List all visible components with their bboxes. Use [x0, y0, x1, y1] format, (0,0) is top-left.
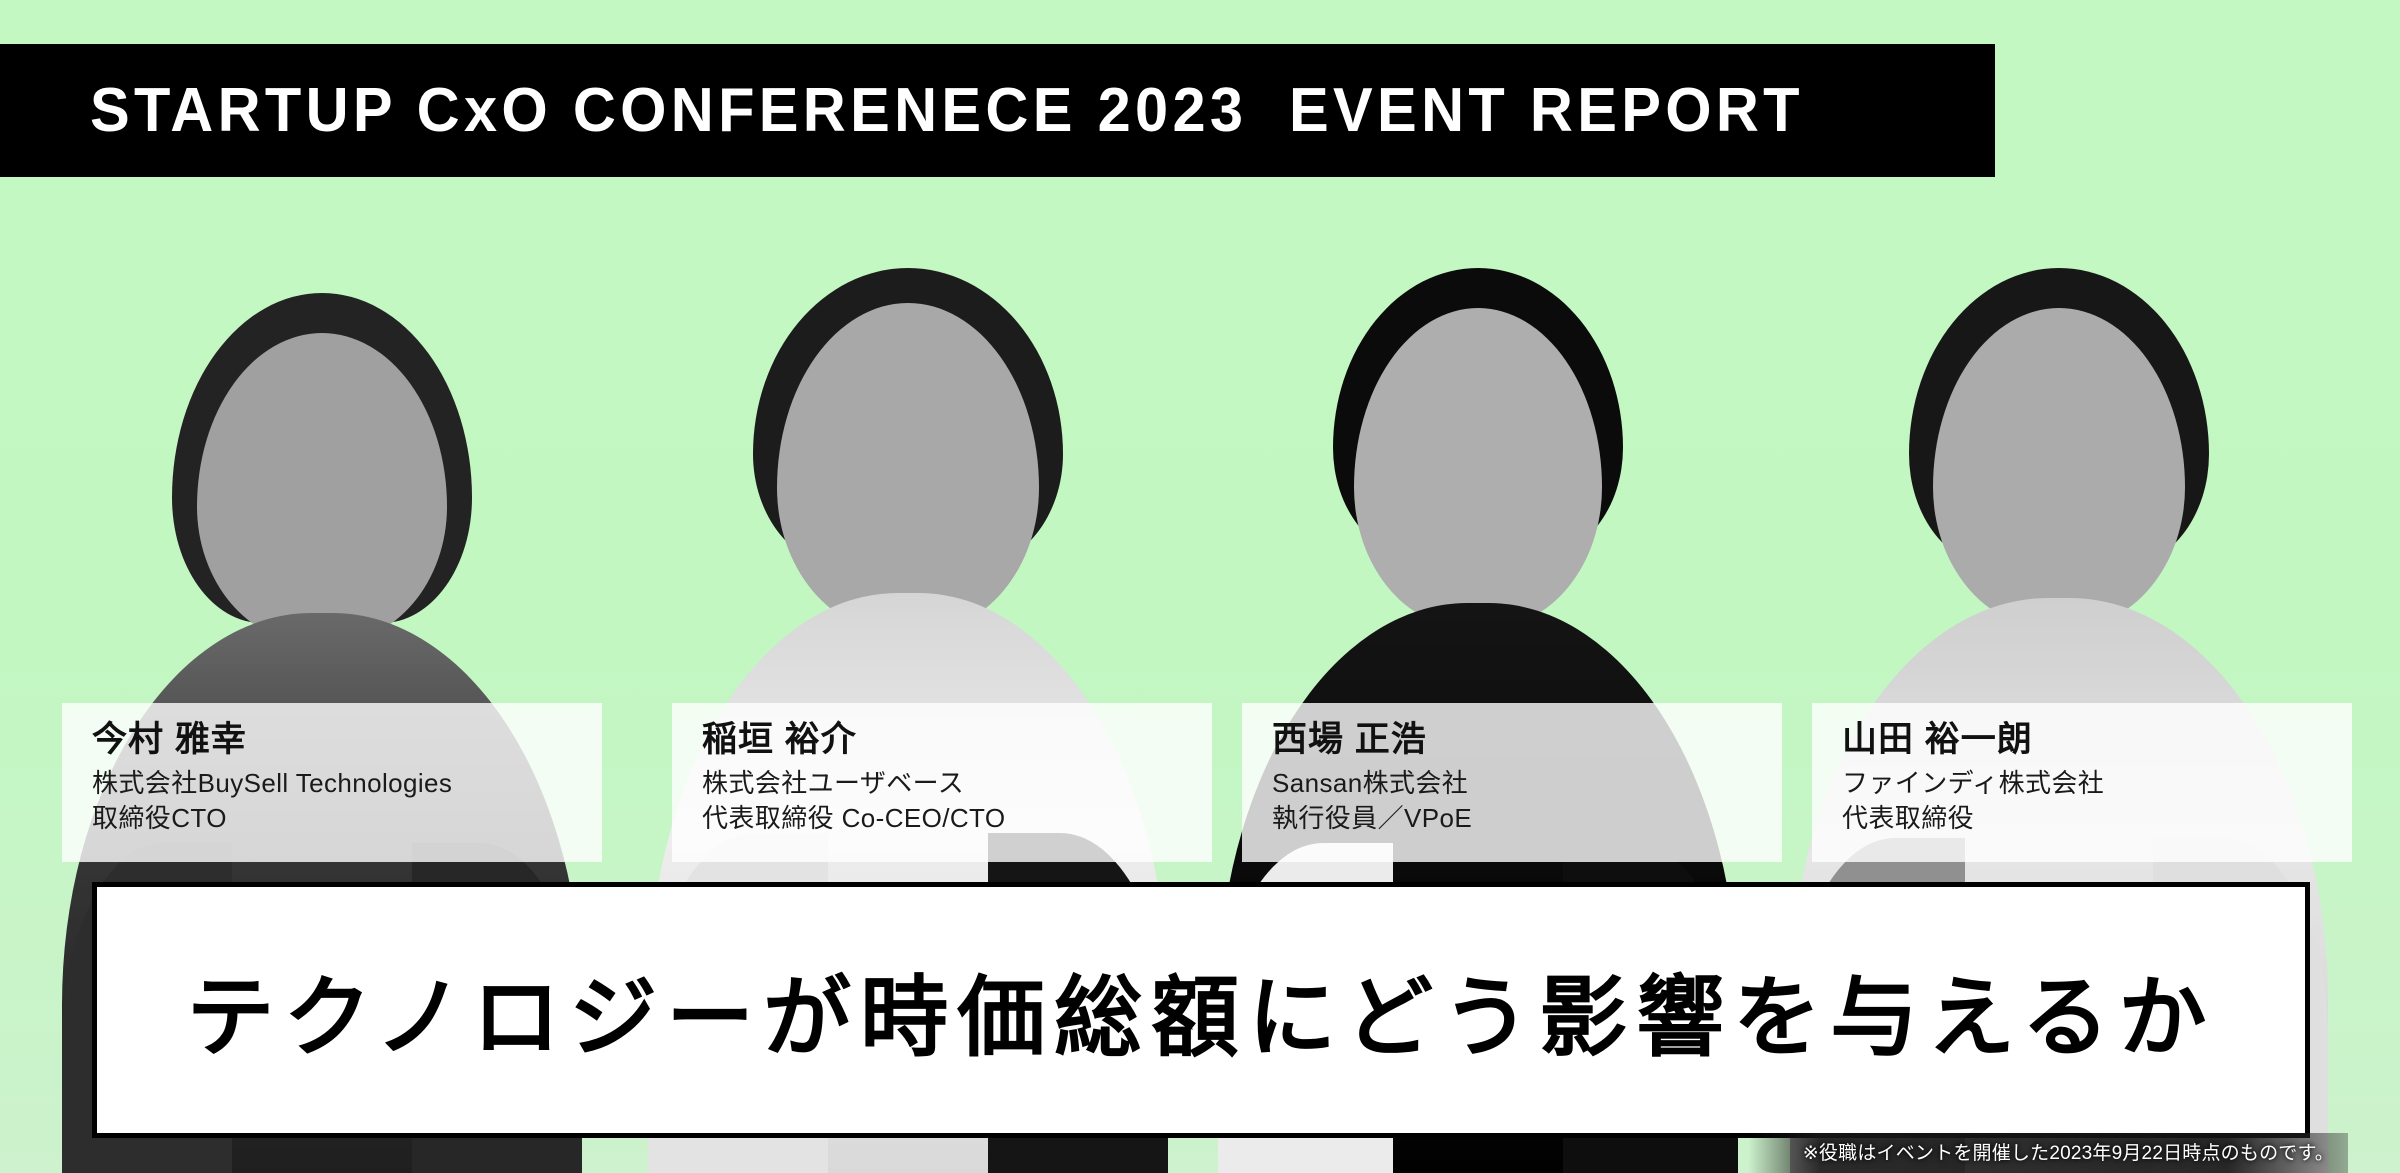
speaker-name-cards: 今村 雅幸 株式会社BuySell Technologies 取締役CTO 稲垣…	[0, 703, 2400, 863]
header-bar: STARTUP CxO CONFERENECE 2023 EVENT REPOR…	[0, 44, 1995, 177]
speaker-company: 株式会社ユーザベース	[702, 766, 1212, 801]
speaker-company: Sansan株式会社	[1272, 766, 1782, 801]
speaker-role: 代表取締役 Co-CEO/CTO	[702, 801, 1212, 836]
speaker-company: 株式会社BuySell Technologies	[92, 766, 602, 801]
speaker-name: 今村 雅幸	[92, 719, 602, 762]
speaker-name: 山田 裕一朗	[1842, 719, 2352, 762]
speaker-card-1: 今村 雅幸 株式会社BuySell Technologies 取締役CTO	[62, 703, 602, 862]
speaker-role: 代表取締役	[1842, 801, 2352, 836]
header-title: STARTUP CxO CONFERENECE 2023 EVENT REPOR…	[90, 75, 1804, 146]
speaker-role: 執行役員／VPoE	[1272, 801, 1782, 836]
speaker-company: ファインディ株式会社	[1842, 766, 2352, 801]
main-title-box: テクノロジーが時価総額にどう影響を与えるか	[92, 882, 2310, 1138]
speaker-role: 取締役CTO	[92, 801, 602, 836]
event-report-poster: STARTUP CxO CONFERENECE 2023 EVENT REPOR…	[0, 0, 2400, 1173]
footnote-text: ※役職はイベントを開催した2023年9月22日時点のものです。	[1803, 1138, 2334, 1165]
main-title-text: テクノロジーが時価総額にどう影響を与えるか	[186, 947, 2215, 1074]
speaker-card-3: 西場 正浩 Sansan株式会社 執行役員／VPoE	[1242, 703, 1782, 862]
speaker-card-2: 稲垣 裕介 株式会社ユーザベース 代表取締役 Co-CEO/CTO	[672, 703, 1212, 862]
speaker-card-4: 山田 裕一朗 ファインディ株式会社 代表取締役	[1812, 703, 2352, 862]
speaker-name: 西場 正浩	[1272, 719, 1782, 762]
speaker-name: 稲垣 裕介	[702, 719, 1212, 762]
